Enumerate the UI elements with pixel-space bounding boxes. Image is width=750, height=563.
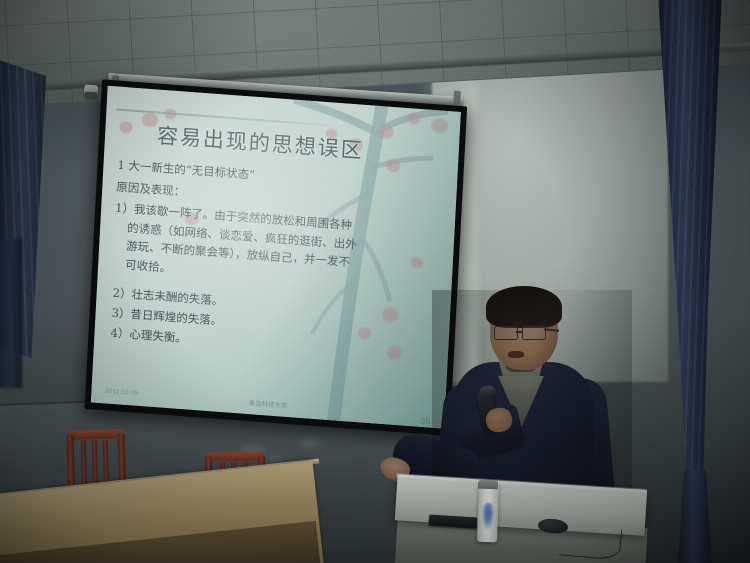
projection-screen: 容易出现的思想误区 1 大一新生的“无目标状态” 原因及表现： 1）我该歇一阵了…	[85, 79, 468, 436]
screen-surface: 容易出现的思想误区 1 大一新生的“无目标状态” 原因及表现： 1）我该歇一阵了…	[91, 86, 461, 429]
mouse-cable	[559, 524, 622, 560]
footer-organization: 青岛科技大学	[248, 397, 287, 410]
presenter-eyebrow-right	[522, 320, 542, 323]
presenter-eyebrow-left	[494, 321, 514, 324]
chair-top-rail	[68, 429, 124, 439]
projection-screen-assembly: 容易出现的思想误区 1 大一新生的“无目标状态” 原因及表现： 1）我该歇一阵了…	[39, 42, 457, 431]
footer-date: 2011-11-28	[105, 388, 138, 396]
chair-top-rail	[207, 451, 265, 461]
glasses-icon	[494, 326, 518, 340]
slide-item-list: 2）壮志未酬的失落。 3）昔日辉煌的失落。 4）心理失衡。	[110, 283, 224, 352]
screen-bracket-right	[453, 90, 461, 104]
thermos-cup-pattern	[482, 503, 495, 529]
thermos-cup-lid	[478, 480, 498, 490]
curtain-left-lower	[0, 238, 22, 388]
slide-section-heading: 1 大一新生的“无目标状态”	[117, 157, 255, 183]
blossom-dot	[142, 112, 159, 127]
lecture-room-photo: 容易出现的思想误区 1 大一新生的“无目标状态” 原因及表现： 1）我该歇一阵了…	[0, 0, 750, 563]
blossom-dot	[119, 121, 133, 134]
slide-section-label: 原因及表现：	[116, 179, 186, 200]
presentation-slide: 容易出现的思想误区 1 大一新生的“无目标状态” 原因及表现： 1）我该歇一阵了…	[91, 86, 461, 429]
glasses-bridge	[516, 331, 523, 333]
slide-page-number: 35	[420, 416, 431, 427]
presenter-mouth	[508, 351, 524, 358]
glasses-icon	[522, 326, 546, 340]
wall-mark	[300, 438, 320, 448]
